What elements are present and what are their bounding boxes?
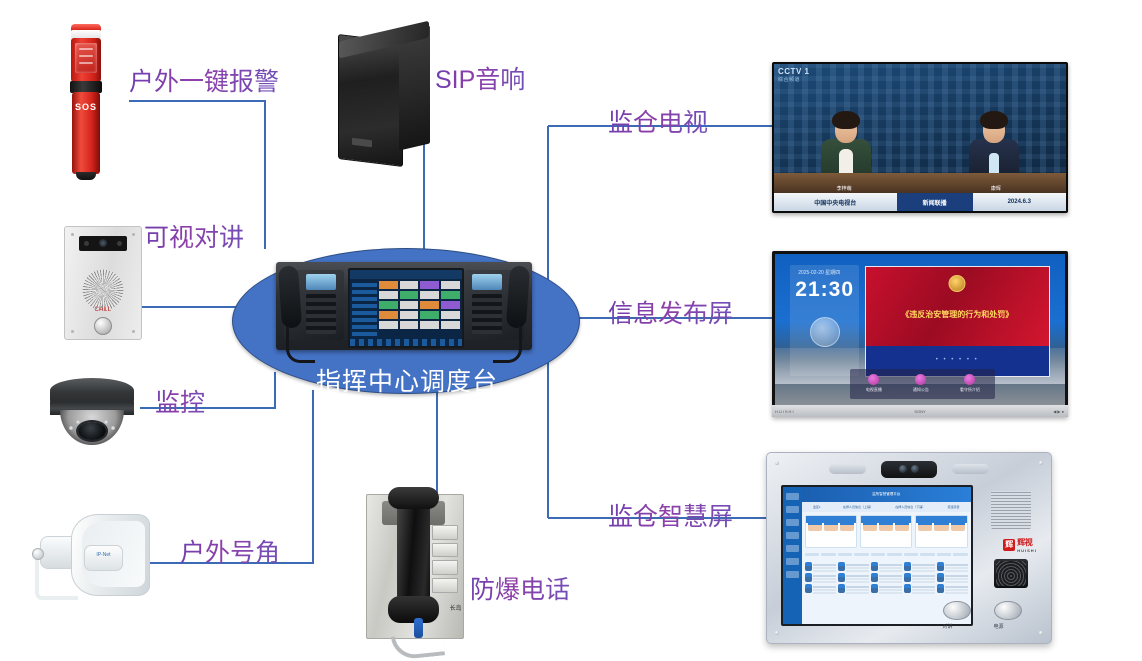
- list-item: [937, 562, 968, 571]
- sip-wall-speaker-icon: [336, 28, 434, 168]
- terminal-camera-icon: [881, 461, 938, 478]
- duty-card: [915, 515, 967, 548]
- tv-anchor-right-name: 康辉: [961, 185, 1031, 192]
- tv-ticker-bar: 中国中央电视台 新闻联播 2024.6.3: [774, 193, 1066, 211]
- inmate-grid: [802, 559, 971, 596]
- dome-camera-icon: [44, 372, 140, 448]
- list-item: [871, 584, 902, 593]
- list-item: [838, 573, 869, 582]
- network-topology-diagram: 指挥中心调度台 SOS 户外一键报警 CALL 可视对讲: [0, 0, 1142, 654]
- building-icon: [964, 374, 975, 385]
- intercom-call-text: CALL: [65, 307, 141, 313]
- power-button-label: 电源: [986, 623, 1012, 630]
- info-tab-live[interactable]: 电视直播: [866, 374, 882, 393]
- info-poster-title: 《违反治安管理的行为和处罚》: [866, 309, 1049, 320]
- list-item: [838, 562, 869, 571]
- list-item: [805, 573, 836, 582]
- info-tab-notice[interactable]: 通知公告: [913, 374, 929, 393]
- notice-icon: [915, 374, 926, 385]
- dispatch-console-icon: [276, 262, 532, 350]
- bezel-left-text: HUISHI: [775, 409, 795, 414]
- explosion-proof-phone-icon: 长岛: [356, 484, 476, 654]
- list-item: [805, 584, 836, 593]
- phone-brand-text: 长岛: [450, 603, 462, 612]
- zone-tab-row[interactable]: [802, 551, 971, 559]
- list-item: [871, 562, 902, 571]
- duty-card: [860, 515, 912, 548]
- list-item: [838, 584, 869, 593]
- tv-ticker-center: 新闻联播: [897, 193, 973, 211]
- label-explosion-phone: 防爆电话: [470, 570, 570, 606]
- label-outdoor-horn: 户外号角: [180, 533, 280, 569]
- smart-terminal-icon: 监所智慧管理平台 监区1 在押人员信息（上铺） 在押人员信息（下铺） 值班民警: [766, 452, 1052, 644]
- label-info-screen: 信息发布屏: [608, 294, 733, 330]
- label-sip-speaker: SIP音响: [435, 60, 525, 96]
- duty-card-row: [802, 512, 971, 551]
- terminal-speaker-grill-icon: [991, 491, 1031, 529]
- tv-live-icon: [868, 374, 879, 385]
- power-button[interactable]: [994, 601, 1022, 620]
- info-dots: • • • • • •: [866, 357, 1049, 363]
- poster-emblem-icon: [949, 275, 966, 292]
- label-camera: 监控: [155, 383, 205, 419]
- display-bezel: HUISHI SONY ◀ ▶ ●: [772, 405, 1068, 417]
- sos-body-text: SOS: [72, 102, 100, 112]
- label-smart-screen: 监仓智慧屏: [608, 497, 733, 533]
- intercom-button[interactable]: [943, 601, 971, 620]
- sos-alarm-pillar-icon: SOS: [62, 24, 110, 182]
- info-date: 2025-02-20 星期四: [798, 269, 840, 276]
- list-item: [805, 562, 836, 571]
- info-tab-bar[interactable]: 电视直播 通知公告 看守所介绍: [850, 369, 995, 399]
- info-time: 21:30: [795, 278, 854, 302]
- fingerprint-reader-icon[interactable]: [994, 559, 1028, 588]
- intercom-call-button[interactable]: [94, 317, 112, 335]
- television-icon: CCTV 1 综合频道 李梓萌 康辉 中国中央电视台 新闻联播 2024.: [772, 62, 1068, 213]
- video-intercom-panel-icon: CALL: [64, 226, 142, 340]
- tv-anchor-left-name: 李梓萌: [809, 185, 879, 192]
- tv-ticker-right: 2024.6.3: [973, 199, 1066, 205]
- tv-channel-sub: 综合频道: [778, 76, 809, 83]
- brand-sub: HUISHI: [1017, 548, 1037, 553]
- tv-channel-logo: CCTV 1 综合频道: [778, 67, 809, 83]
- horn-speaker-icon: IP-Net: [28, 508, 150, 600]
- hub-label: 指挥中心调度台: [316, 362, 498, 398]
- information-display-icon: 2025-02-20 星期四 21:30 《违反治安管理的行为和处罚》 • • …: [772, 251, 1068, 417]
- label-video-intercom: 可视对讲: [144, 218, 244, 254]
- police-emblem-icon: [810, 317, 840, 347]
- label-cell-tv: 监仓电视: [608, 103, 708, 139]
- tv-ticker-left: 中国中央电视台: [774, 198, 897, 207]
- intercom-button-label: 对讲: [935, 623, 961, 630]
- app-sub-tabs[interactable]: 监区1 在押人员信息（上铺） 在押人员信息（下铺） 值班民警: [802, 502, 971, 512]
- list-item: [937, 584, 968, 593]
- list-item: [937, 573, 968, 582]
- bezel-center-text: SONY: [914, 409, 925, 414]
- app-title: 监所智慧管理平台: [802, 487, 971, 502]
- horn-brand-text: IP-Net: [96, 552, 110, 558]
- intercom-camera-icon: [79, 236, 128, 251]
- brand-mark-icon: 辉: [1003, 539, 1015, 551]
- list-item: [904, 584, 935, 593]
- list-item: [904, 573, 935, 582]
- bezel-right-controls[interactable]: ◀ ▶ ●: [1053, 409, 1064, 414]
- info-tab-intro[interactable]: 看守所介绍: [960, 374, 980, 393]
- brand-logo: 辉 辉视HUISHI: [1003, 537, 1037, 553]
- label-sos-alarm: 户外一键报警: [129, 62, 279, 98]
- list-item: [904, 562, 935, 571]
- list-item: [871, 573, 902, 582]
- duty-card: [805, 515, 857, 548]
- brand-name: 辉视HUISHI: [1017, 537, 1037, 553]
- app-sidebar[interactable]: [783, 487, 802, 624]
